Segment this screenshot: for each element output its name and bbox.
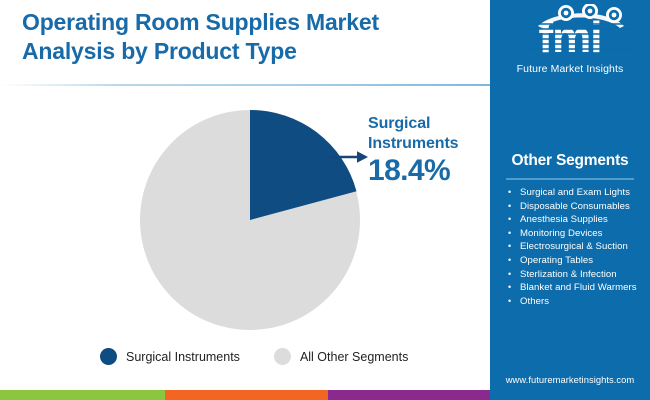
bullet-icon: • [508,186,520,200]
legend-label: Surgical Instruments [126,350,240,364]
pie-chart [140,110,360,330]
pie-chart-svg [140,110,360,330]
bullet-icon: • [508,200,520,214]
footer-stripe-orange [165,390,328,400]
list-item-label: Sterlization & Infection [520,268,617,282]
list-item-label: Anesthesia Supplies [520,213,608,227]
fmi-logo-icon: fmi [504,4,636,62]
legend-swatch-icon [100,348,117,365]
list-item: • Electrosurgical & Suction [508,240,648,254]
infographic-root: Operating Room Supplies Market Analysis … [0,0,650,400]
svg-text:fmi: fmi [539,13,602,62]
bullet-icon: • [508,268,520,282]
list-item-label: Blanket and Fluid Warmers [520,281,637,295]
list-item: • Monitoring Devices [508,227,648,241]
side-panel-heading: Other Segments [490,152,650,170]
bullet-icon: • [508,254,520,268]
callout-value: 18.4% [368,155,494,187]
legend-label: All Other Segments [300,350,408,364]
bullet-icon: • [508,213,520,227]
bullet-icon: • [508,240,520,254]
legend-item-all-other-segments: All Other Segments [274,348,408,365]
list-item: • Operating Tables [508,254,648,268]
callout-arrow-icon [330,148,370,166]
list-item-label: Surgical and Exam Lights [520,186,630,200]
list-item-label: Disposable Consumables [520,200,630,214]
footer-stripes [0,390,490,400]
bullet-icon: • [508,227,520,241]
other-segments-list: • Surgical and Exam Lights • Disposable … [508,186,648,308]
list-item-label: Electrosurgical & Suction [520,240,628,254]
list-item: • Sterlization & Infection [508,268,648,282]
list-item-label: Monitoring Devices [520,227,602,241]
website-url[interactable]: www.futuremarketinsights.com [490,374,650,385]
side-panel-divider [506,178,634,180]
list-item: • Blanket and Fluid Warmers [508,281,648,295]
list-item-label: Operating Tables [520,254,593,268]
callout-label: Surgical Instruments [368,114,494,154]
list-item-label: Others [520,295,549,309]
list-item: • Disposable Consumables [508,200,648,214]
list-item: • Others [508,295,648,309]
page-title-text: Operating Room Supplies Market Analysis … [22,8,462,66]
side-panel: fmi Future Market Insights Other Segment… [490,0,650,400]
chart-legend: Surgical Instruments All Other Segments [100,348,408,365]
legend-swatch-icon [274,348,291,365]
fmi-logo: fmi Future Market Insights [490,4,650,82]
bullet-icon: • [508,281,520,295]
page-title: Operating Room Supplies Market Analysis … [22,8,462,66]
title-divider [0,84,490,86]
legend-item-surgical-instruments: Surgical Instruments [100,348,240,365]
list-item: • Surgical and Exam Lights [508,186,648,200]
logo-tagline: Future Market Insights [490,63,650,75]
footer-stripe-green [0,390,165,400]
bullet-icon: • [508,295,520,309]
footer-stripe-purple [328,390,490,400]
callout-block: Surgical Instruments 18.4% [368,114,494,187]
list-item: • Anesthesia Supplies [508,213,648,227]
